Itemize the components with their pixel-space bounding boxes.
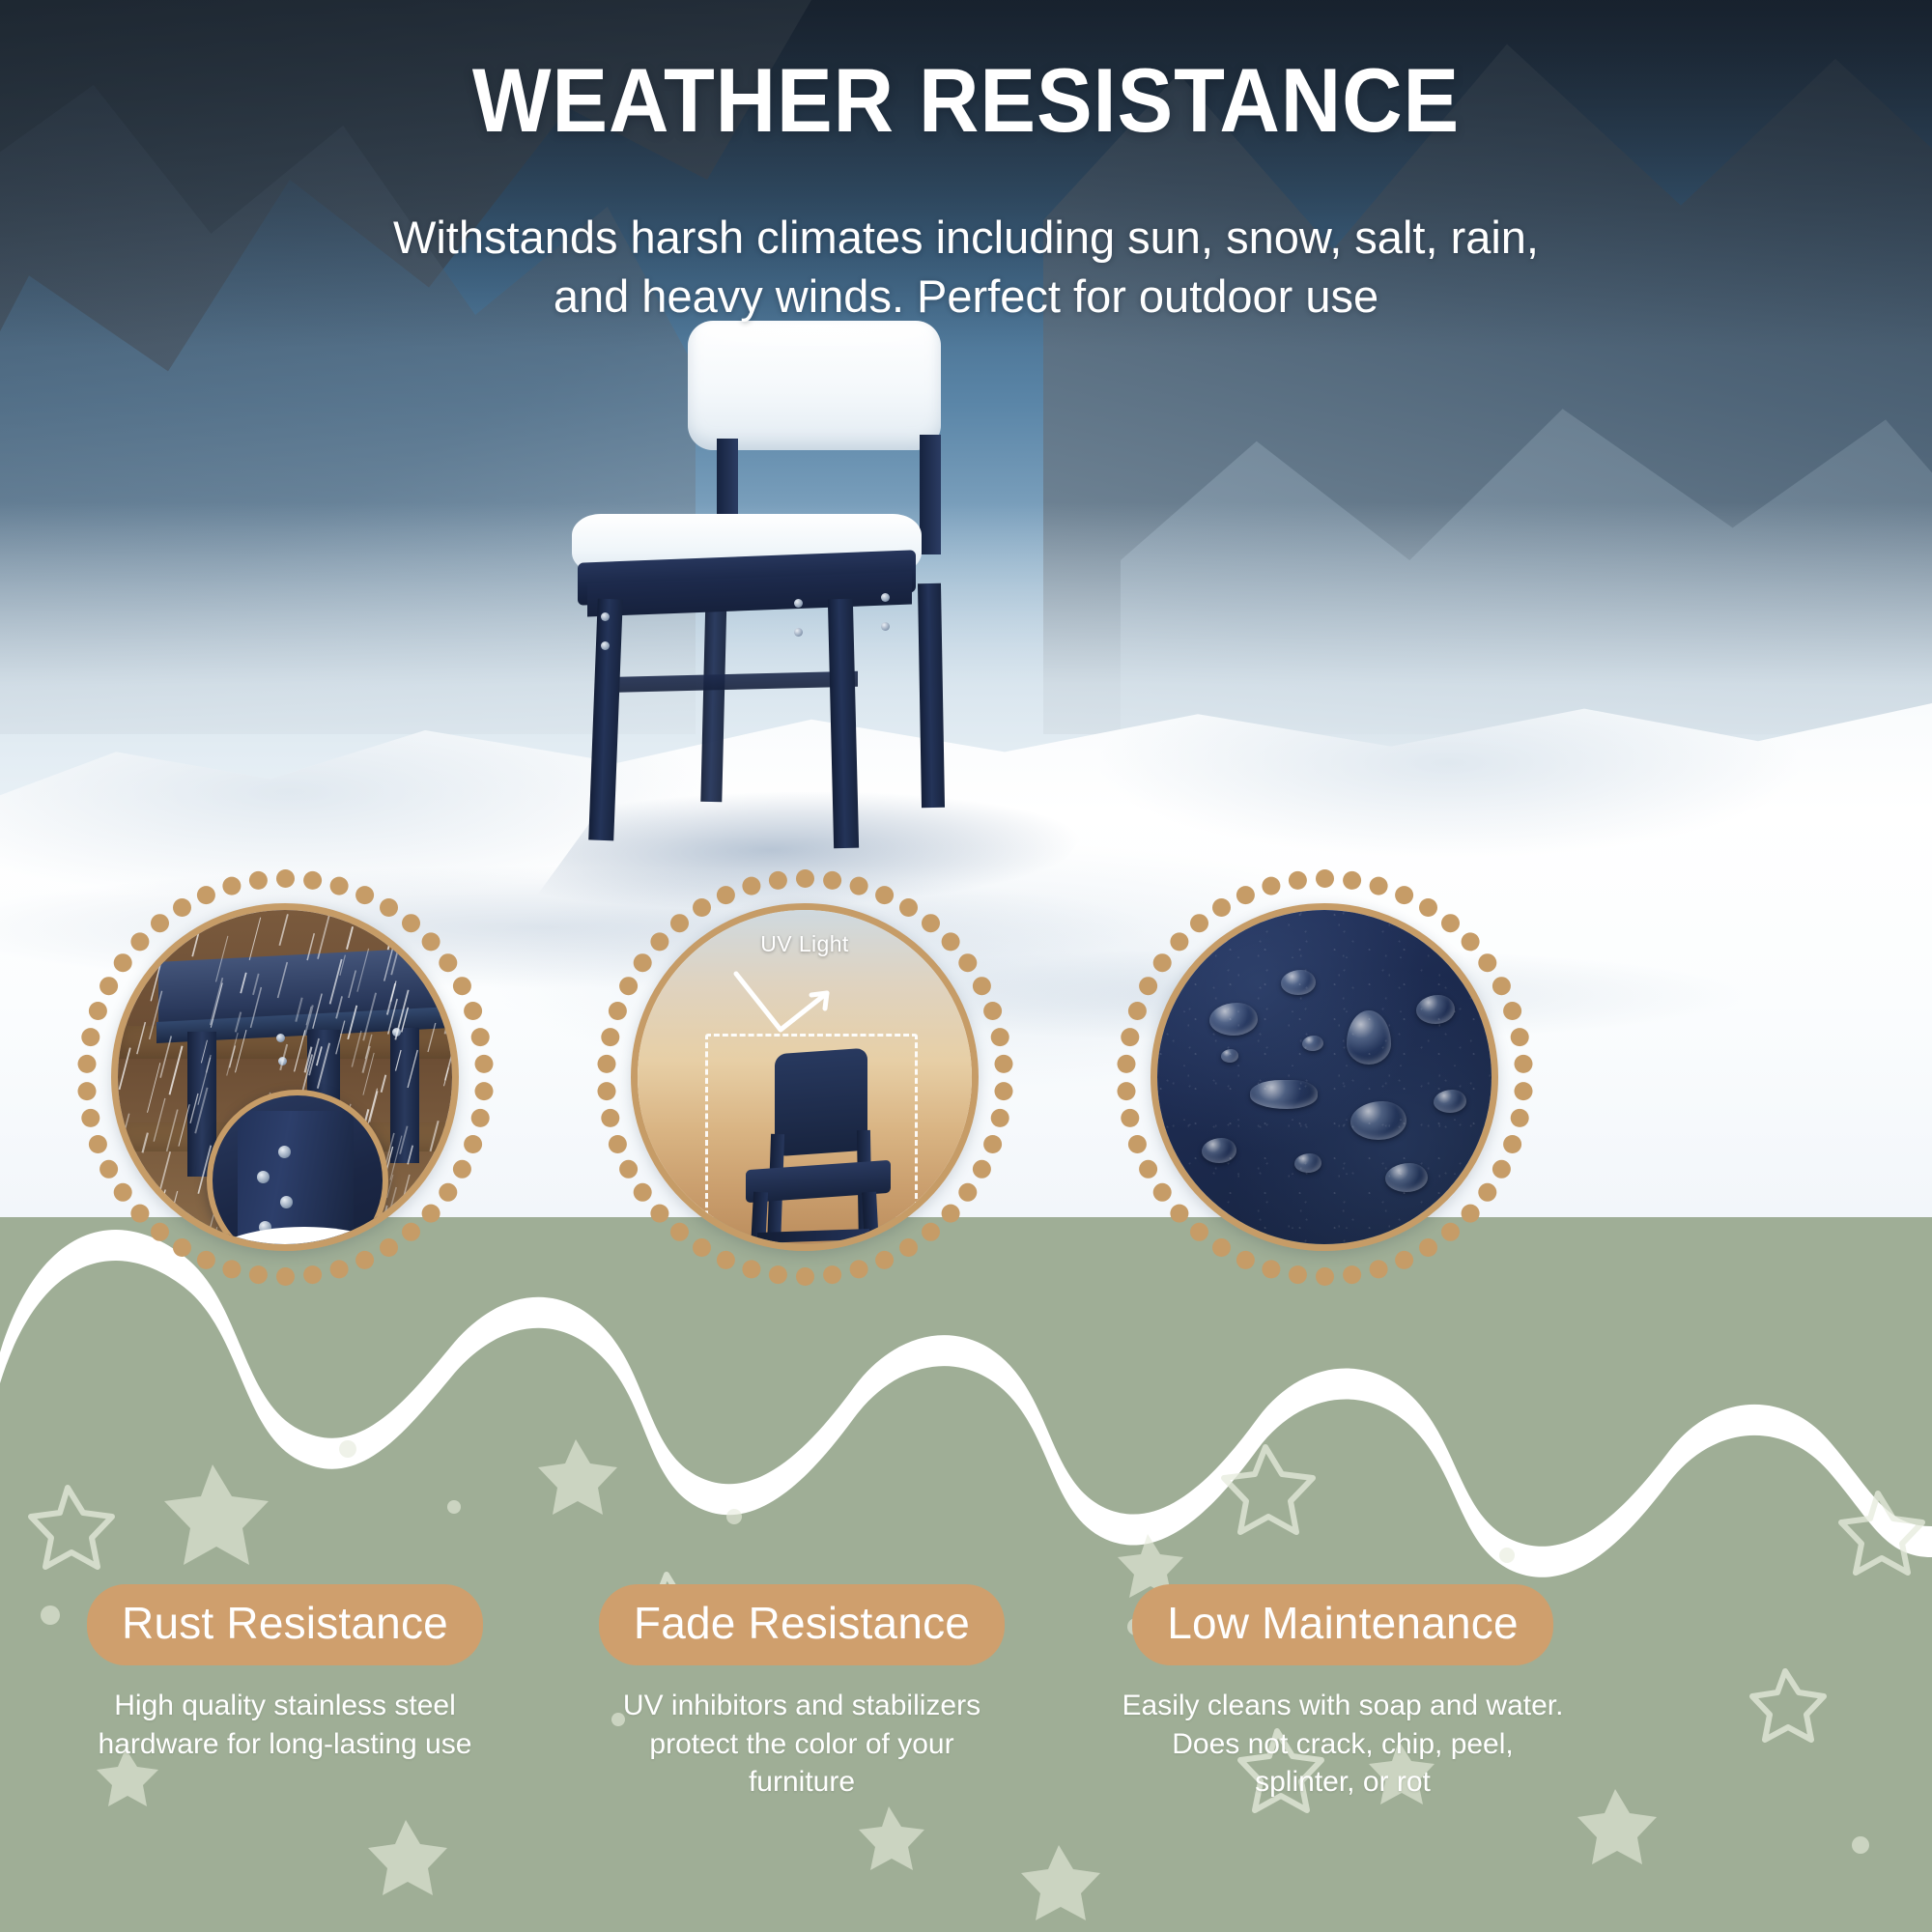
feature-title-fade-resistance: Fade Resistance <box>599 1584 1005 1665</box>
ring-dot <box>1492 1159 1510 1178</box>
page-title: WEATHER RESISTANCE <box>77 48 1855 153</box>
ring-dot <box>1514 1082 1532 1100</box>
ring-dot <box>77 1082 96 1100</box>
feature-block-fade-resistance: Fade Resistance UV inhibitors and stabil… <box>512 1584 1092 1802</box>
screw-icon <box>881 622 890 631</box>
ring-dot <box>1369 876 1387 895</box>
dot-decoration <box>726 1509 742 1524</box>
ring-dot <box>823 1265 841 1284</box>
ring-dot <box>1395 886 1413 904</box>
ring-dot <box>1262 876 1280 895</box>
ring-dot <box>355 886 374 904</box>
screw-icon <box>257 1171 270 1183</box>
dot-decoration <box>1499 1548 1515 1563</box>
chair-leg-front-right <box>828 599 859 849</box>
ring-dot <box>983 1002 1002 1020</box>
ring-dot <box>99 1159 118 1178</box>
ring-dot <box>248 1265 267 1284</box>
ring-dot <box>1139 977 1157 995</box>
water-droplet-icon <box>1281 970 1316 995</box>
ring-dot <box>796 1267 814 1286</box>
ring-dot <box>597 1054 615 1072</box>
feature-description-rust-resistance: High quality stainless steel hardware fo… <box>0 1687 575 1763</box>
screw-icon <box>794 599 803 608</box>
dot-decoration <box>339 1440 356 1458</box>
ring-dot <box>1510 1108 1528 1126</box>
ring-dot <box>1514 1054 1532 1072</box>
ring-dot <box>1343 1265 1361 1284</box>
ring-dot <box>222 876 241 895</box>
feature-description-fade-resistance: UV inhibitors and stabilizers protect th… <box>512 1687 1092 1802</box>
ring-dot <box>1262 1260 1280 1278</box>
feature-title-low-maintenance: Low Maintenance <box>1132 1584 1553 1665</box>
feature-block-low-maintenance: Low Maintenance Easily cleans with soap … <box>1034 1584 1652 1802</box>
star-filled-icon <box>538 1439 617 1515</box>
ring-dot <box>994 1054 1012 1072</box>
water-droplet-icon <box>1250 1080 1318 1109</box>
chair-backrest-snow <box>688 321 941 450</box>
ring-dot <box>849 876 867 895</box>
water-droplet-icon <box>1294 1153 1321 1173</box>
ring-dot <box>88 1002 106 1020</box>
ring-dot <box>1343 870 1361 889</box>
ring-dot <box>452 977 470 995</box>
ring-dot <box>1503 1135 1521 1153</box>
subtitle-line-1: Withstands harsh climates including sun,… <box>328 208 1604 267</box>
ring-dot <box>1288 1265 1306 1284</box>
ring-dot <box>1369 1260 1387 1278</box>
chair-back-post-right <box>920 435 941 554</box>
star-outline-icon <box>1752 1671 1824 1740</box>
ring-dot <box>983 1135 1002 1153</box>
ring-dot <box>355 1250 374 1268</box>
ring-dot <box>994 1082 1012 1100</box>
ring-dot <box>474 1054 493 1072</box>
ring-dot <box>716 1250 734 1268</box>
ring-dot <box>1121 1108 1139 1126</box>
star-outline-icon <box>1224 1447 1313 1532</box>
screw-icon <box>794 628 803 637</box>
ring-dot <box>768 870 786 889</box>
star-outline-icon <box>31 1488 112 1567</box>
ring-dot <box>1236 886 1254 904</box>
uv-light-label: UV Light <box>638 931 972 957</box>
hero-product-chair <box>541 309 1043 850</box>
water-droplet-icon <box>1202 1138 1236 1163</box>
ring-dot <box>601 1108 619 1126</box>
ring-dot <box>222 1260 241 1278</box>
ring-dot <box>1316 869 1334 888</box>
ring-dot <box>1395 1250 1413 1268</box>
ring-dot <box>81 1028 99 1046</box>
ring-dot <box>196 1250 214 1268</box>
ring-dot <box>276 869 295 888</box>
ring-dot <box>990 1028 1009 1046</box>
ring-dot <box>452 1159 470 1178</box>
screw-icon <box>280 1196 293 1208</box>
ring-dot <box>1127 1135 1146 1153</box>
screw-icon <box>881 593 890 602</box>
ring-dot <box>303 870 322 889</box>
screw-icon <box>601 641 610 650</box>
ring-dot <box>1117 1054 1135 1072</box>
star-filled-icon <box>164 1464 269 1565</box>
ring-dot <box>464 1002 482 1020</box>
ring-dot <box>99 977 118 995</box>
ring-dot <box>464 1135 482 1153</box>
ring-dot <box>1121 1028 1139 1046</box>
ring-dot <box>1288 870 1306 889</box>
ring-dot <box>303 1265 322 1284</box>
ring-dot <box>196 886 214 904</box>
chair-in-sun <box>713 1051 916 1251</box>
ring-dot <box>608 1135 626 1153</box>
infographic-canvas: WEATHER RESISTANCE Withstands harsh clim… <box>0 0 1932 1932</box>
ring-dot <box>608 1002 626 1020</box>
ring-dot <box>972 1159 990 1178</box>
water-droplet-icon <box>1221 1049 1238 1063</box>
ring-dot <box>1503 1002 1521 1020</box>
ring-dot <box>248 870 267 889</box>
chair-leg-back-left <box>700 587 726 802</box>
water-droplet-icon <box>1350 1101 1406 1140</box>
sunlight-scene: UV Light <box>638 910 972 1244</box>
ring-dot <box>329 876 348 895</box>
screw-icon <box>601 612 610 621</box>
ring-dot <box>1139 1159 1157 1178</box>
chair-stretcher <box>599 671 858 694</box>
ring-dot <box>619 1159 638 1178</box>
water-droplet-icon <box>1416 995 1455 1024</box>
ring-dot <box>81 1108 99 1126</box>
chair-leg-back-right <box>918 583 945 808</box>
ring-dot <box>849 1260 867 1278</box>
ring-dot <box>276 1267 295 1286</box>
ring-dot <box>1510 1028 1528 1046</box>
ring-dot <box>77 1054 96 1072</box>
ring-dot <box>768 1265 786 1284</box>
page-subtitle: Withstands harsh climates including sun,… <box>328 208 1604 326</box>
water-droplet-icon <box>1347 1010 1391 1065</box>
water-droplet-icon <box>1385 1163 1428 1192</box>
ring-dot <box>470 1108 489 1126</box>
ring-dot <box>1117 1082 1135 1100</box>
ring-dot <box>742 876 760 895</box>
star-outline-icon <box>1841 1493 1922 1573</box>
ring-dot <box>742 1260 760 1278</box>
ring-dot <box>875 886 894 904</box>
ring-dot <box>474 1082 493 1100</box>
ring-dot <box>875 1250 894 1268</box>
ring-dot <box>990 1108 1009 1126</box>
ring-dot <box>972 977 990 995</box>
star-filled-icon <box>368 1820 447 1895</box>
water-droplet-icon <box>1209 1003 1258 1036</box>
dot-decoration <box>447 1500 461 1514</box>
ring-dot <box>716 886 734 904</box>
ring-dot <box>619 977 638 995</box>
feature-image-low-maintenance <box>1151 903 1498 1251</box>
water-droplet-icon <box>1434 1090 1466 1113</box>
feature-block-rust-resistance: Rust Resistance High quality stainless s… <box>0 1584 575 1763</box>
feature-description-low-maintenance: Easily cleans with soap and water. Does … <box>1034 1687 1652 1802</box>
ring-dot <box>1316 1267 1334 1286</box>
star-filled-icon <box>1021 1845 1100 1920</box>
screw-icon <box>278 1146 291 1158</box>
ring-dot <box>1127 1002 1146 1020</box>
water-bead-scene <box>1157 910 1492 1244</box>
ring-dot <box>1492 977 1510 995</box>
feature-image-rust-resistance <box>111 903 459 1251</box>
feature-image-fade-resistance: UV Light <box>631 903 979 1251</box>
star-filled-icon <box>859 1806 924 1870</box>
ring-dot <box>470 1028 489 1046</box>
ring-dot <box>329 1260 348 1278</box>
ring-dot <box>597 1082 615 1100</box>
ring-dot <box>823 870 841 889</box>
water-droplet-icon <box>1302 1036 1323 1051</box>
ring-dot <box>1236 1250 1254 1268</box>
ring-dot <box>88 1135 106 1153</box>
ring-dot <box>796 869 814 888</box>
subtitle-line-2: and heavy winds. Perfect for outdoor use <box>328 267 1604 326</box>
feature-title-rust-resistance: Rust Resistance <box>87 1584 483 1665</box>
dot-decoration <box>1852 1836 1869 1854</box>
ring-dot <box>601 1028 619 1046</box>
